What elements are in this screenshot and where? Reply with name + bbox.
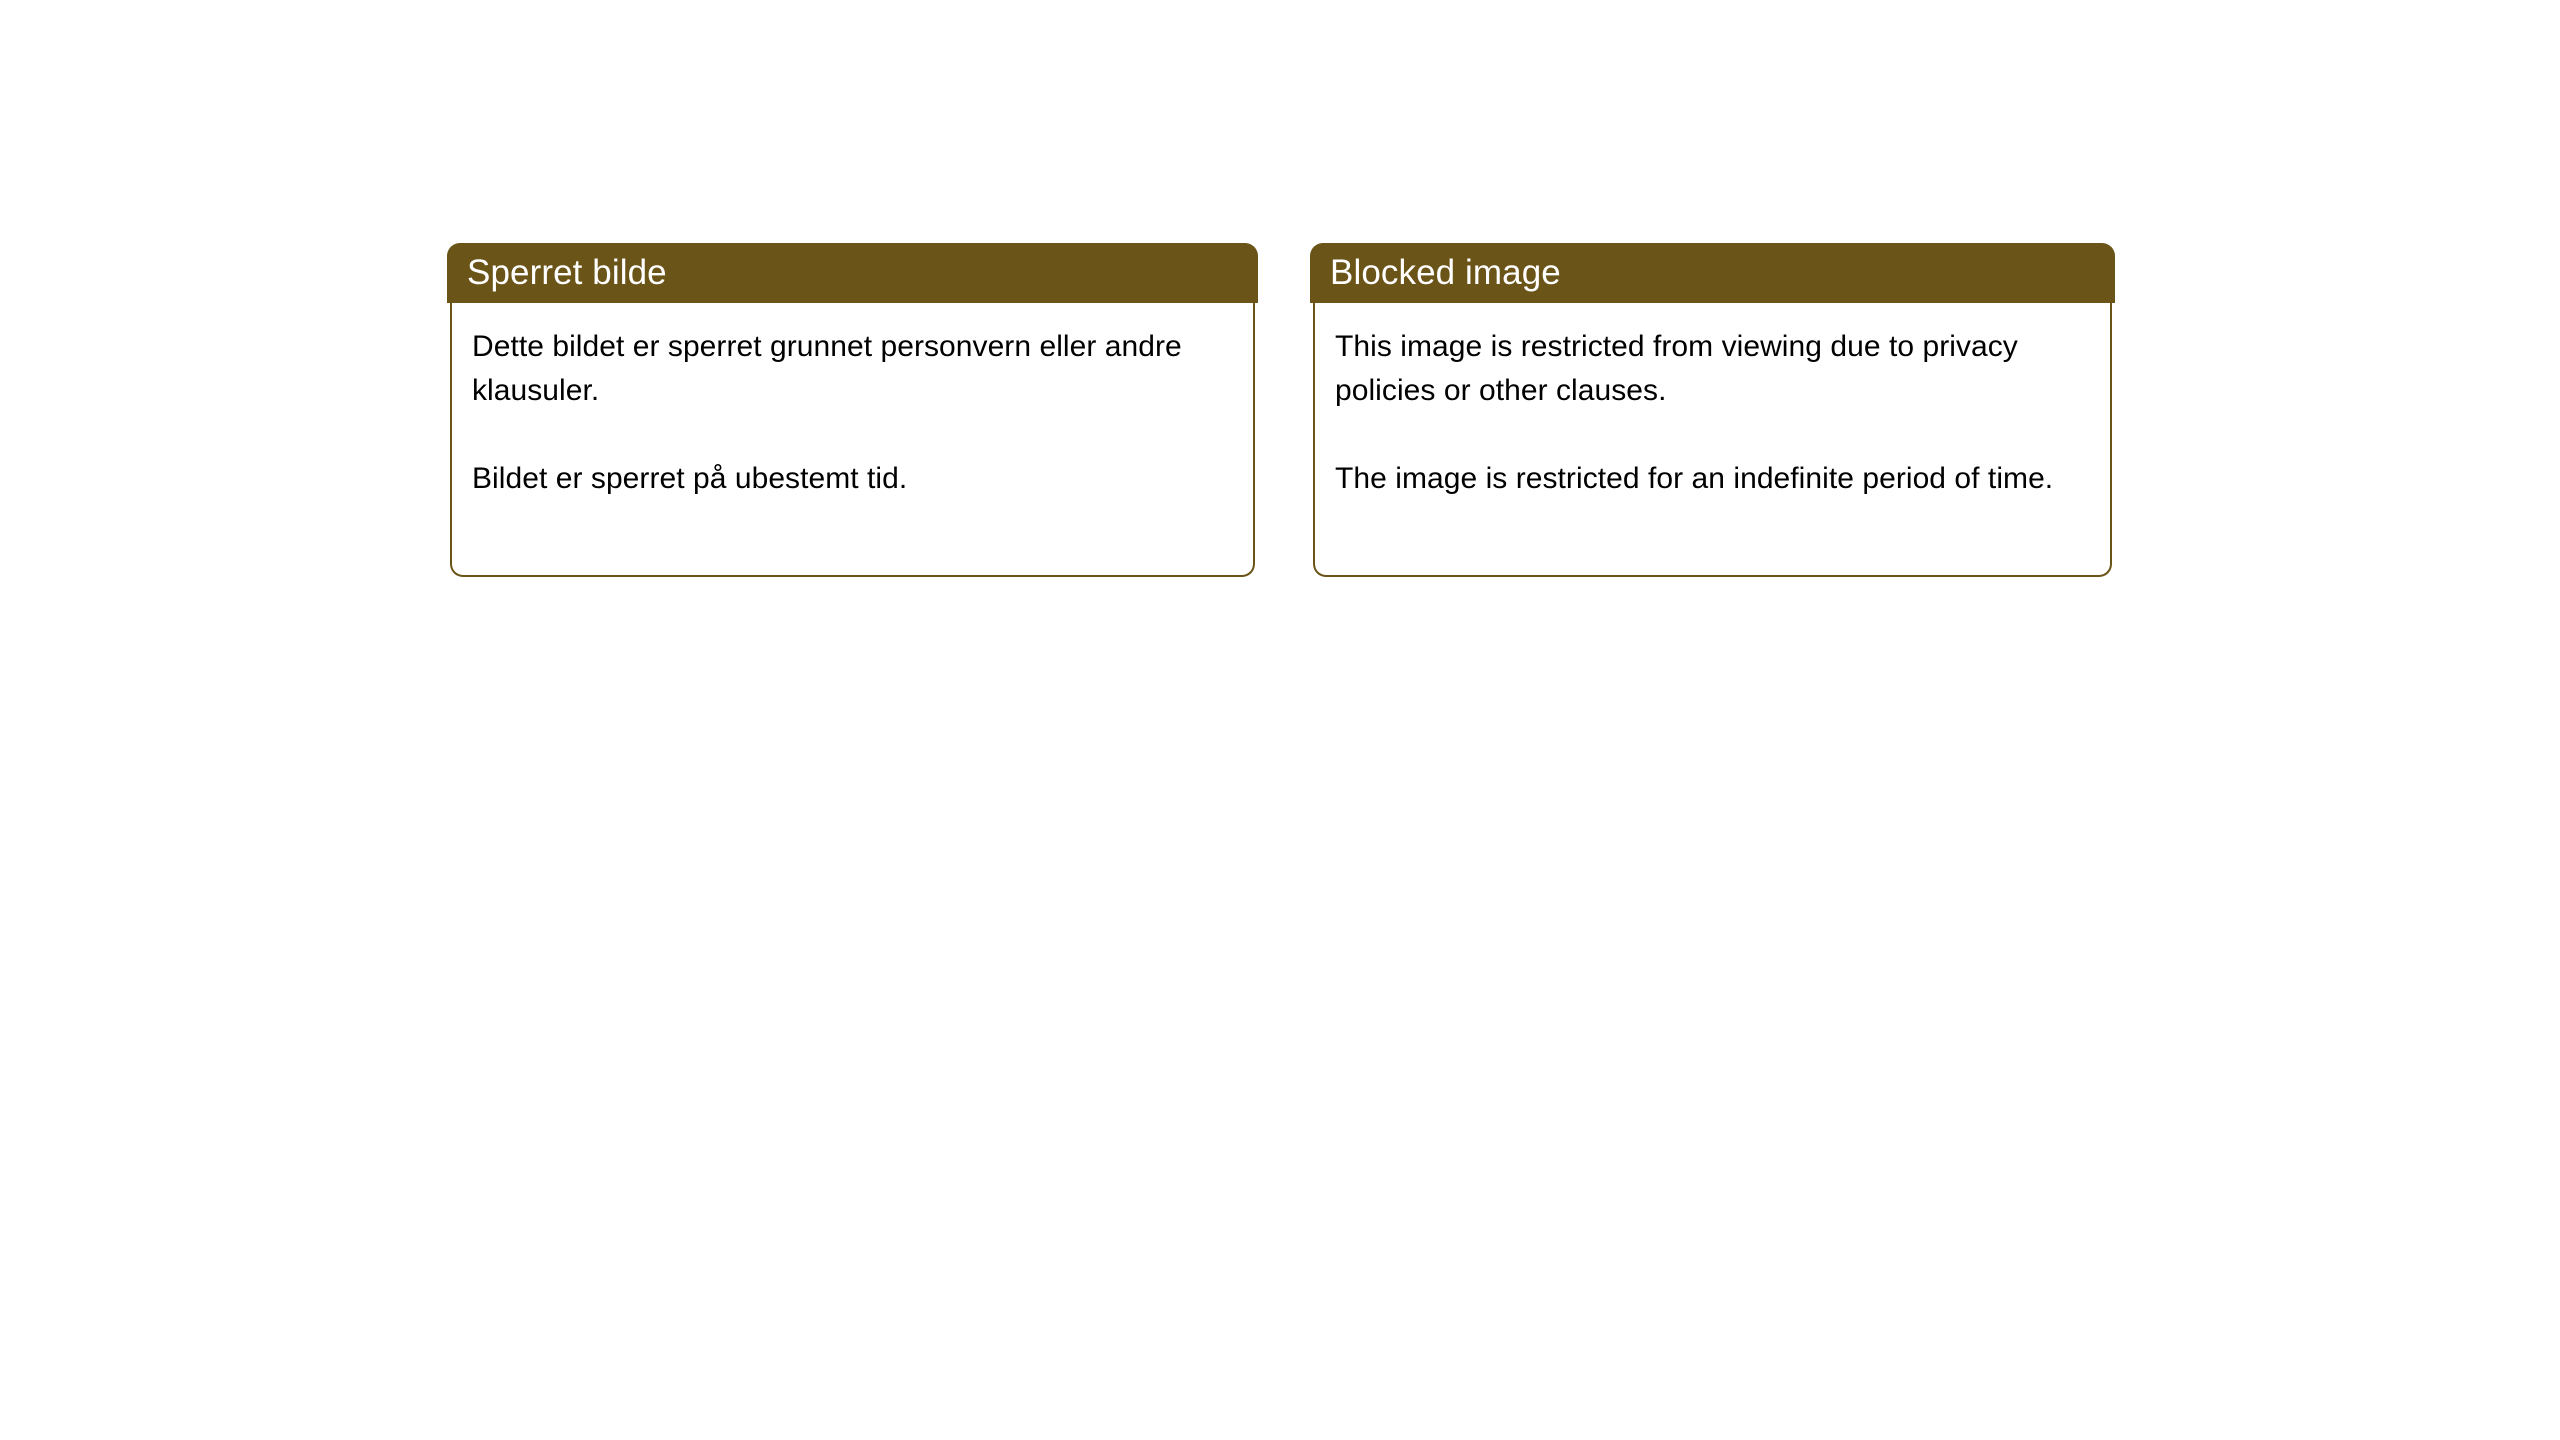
card-body-english: This image is restricted from viewing du… (1313, 303, 2112, 577)
card-body-norwegian: Dette bildet er sperret grunnet personve… (450, 303, 1255, 577)
blocked-image-card-english: Blocked image This image is restricted f… (1313, 243, 2112, 577)
card-title-english: Blocked image (1330, 255, 1561, 290)
card-title-norwegian: Sperret bilde (467, 255, 667, 290)
card-header-norwegian: Sperret bilde (447, 243, 1258, 303)
page-canvas: Sperret bilde Dette bildet er sperret gr… (0, 0, 2560, 1440)
card-paragraph-reason-english: This image is restricted from viewing du… (1335, 325, 2088, 413)
card-paragraph-duration-english: The image is restricted for an indefinit… (1335, 457, 2088, 501)
blocked-image-card-norwegian: Sperret bilde Dette bildet er sperret gr… (450, 243, 1255, 577)
card-paragraph-duration-norwegian: Bildet er sperret på ubestemt tid. (472, 457, 1231, 501)
paragraph-spacer (472, 413, 1231, 457)
card-header-english: Blocked image (1310, 243, 2115, 303)
card-paragraph-reason-norwegian: Dette bildet er sperret grunnet personve… (472, 325, 1231, 413)
paragraph-spacer (1335, 413, 2088, 457)
blocked-image-notice-group: Sperret bilde Dette bildet er sperret gr… (450, 243, 2112, 577)
